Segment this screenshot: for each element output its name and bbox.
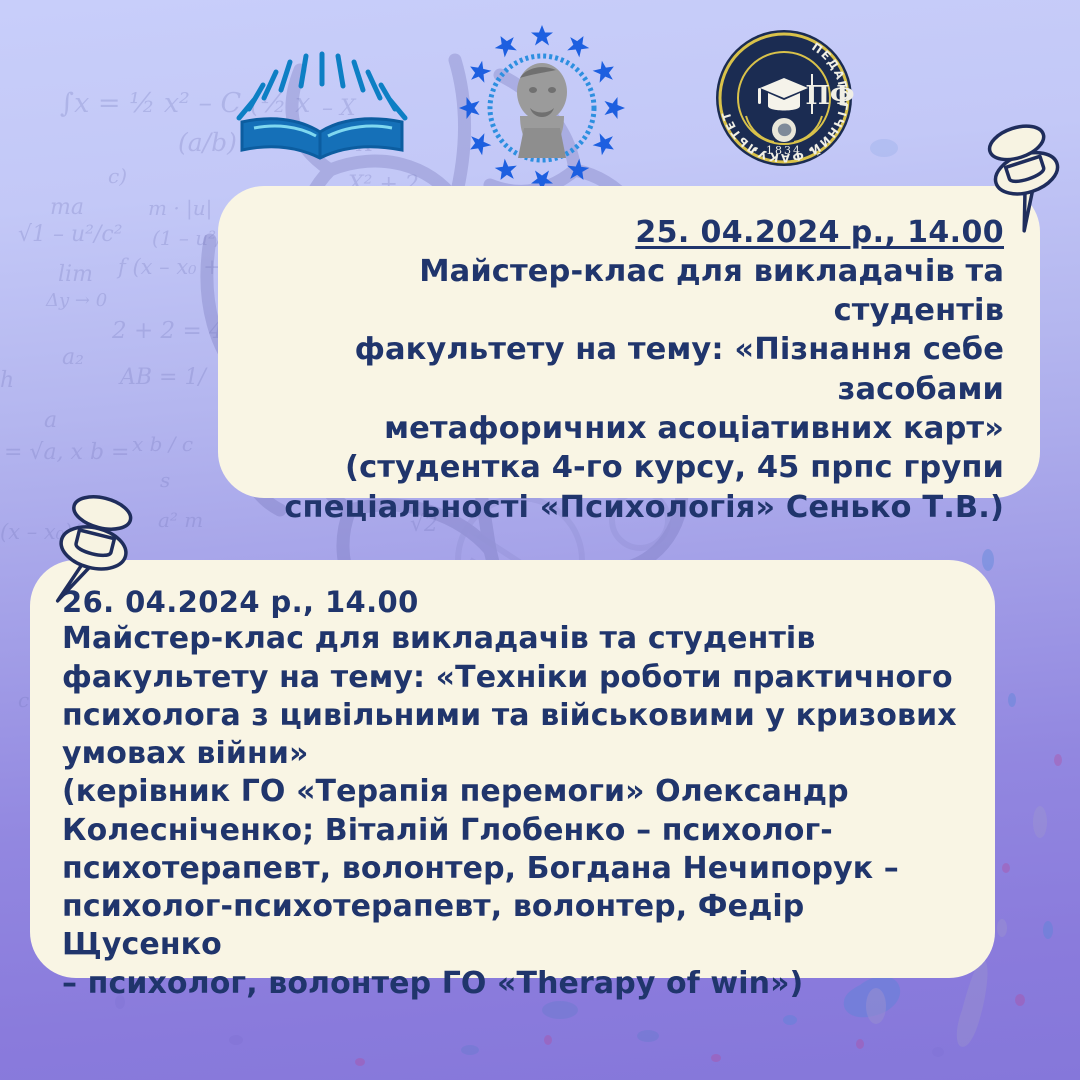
background-formula: AB = 1/	[120, 365, 206, 390]
background-formula: ma	[50, 195, 84, 220]
background-formula: a² m	[158, 508, 203, 532]
pedagogical-faculty-emblem: ПЕДАГОГІЧНИЙ ФАКУЛЬТЕТ ПФ • 1834 •	[714, 28, 854, 172]
event-date-26-april: 26. 04.2024 р., 14.00	[62, 586, 965, 618]
background-formula: (a/b)	[178, 128, 237, 157]
event-card-26-april[interactable]: 26. 04.2024 р., 14.00 Майстер-клас для в…	[30, 560, 995, 978]
event-description-25-april: Майстер-клас для викладачів та студентів…	[258, 252, 1004, 527]
background-formula: s	[160, 468, 170, 492]
background-formula: lim	[58, 262, 93, 287]
background-formula: = √a, x b =	[4, 440, 129, 465]
background-formula: h	[0, 368, 14, 393]
background-formula: a₂	[62, 345, 84, 370]
event-card-25-april[interactable]: 25. 04.2024 р., 14.00 Майстер-клас для в…	[218, 186, 1040, 498]
poster-root: ∫x = ½ x² – C (½ x(a/b)ma√1 – u²/c²m · |…	[0, 0, 1080, 1080]
pushpin-top-right-icon	[968, 112, 1080, 248]
skovoroda-university-emblem	[458, 24, 626, 196]
pushpin-bottom-left-icon	[36, 484, 156, 628]
event-date-25-april: 25. 04.2024 р., 14.00	[258, 216, 1004, 250]
background-formula: √1 – u²/c²	[18, 222, 123, 247]
background-formula: m · |u|	[148, 196, 212, 220]
event-description-26-april: Майстер-клас для викладачів та студентів…	[62, 620, 965, 1003]
background-formula: 2 + 2 = 4	[112, 318, 224, 344]
svg-text:• 1834 •: • 1834 •	[752, 144, 816, 157]
background-formula: Δy → 0	[46, 290, 107, 311]
background-formula: c)	[108, 164, 127, 188]
svg-text:ПФ: ПФ	[805, 81, 854, 111]
background-formula: x b / c	[132, 432, 193, 456]
background-formula: (1 – u²/	[152, 226, 223, 250]
kharkiv-university-book-logo	[232, 48, 412, 172]
background-formula: a	[44, 408, 57, 433]
